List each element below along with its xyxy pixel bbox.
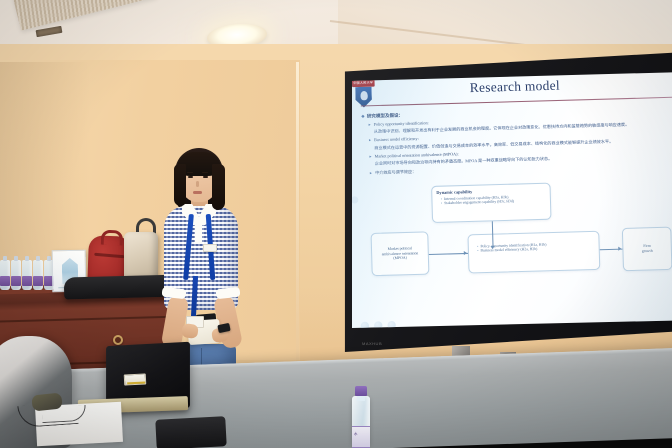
bullet-term: Policy opportunity identification: [374, 120, 429, 127]
bottle-cap [355, 386, 367, 396]
presentation-display[interactable]: 中国人民大学 Research model 研究模型及假设： Policy op… [338, 52, 672, 352]
diagram-arrow-mpoa-to-mediators [429, 253, 468, 255]
slide-tool-icon[interactable] [374, 321, 382, 328]
bottle-label-text: 水 [354, 432, 358, 437]
slide-body: 研究模型及假设： Policy opportunity identificati… [361, 105, 672, 178]
arrow-head-icon [618, 246, 621, 250]
display-screen[interactable]: 中国人民大学 Research model 研究模型及假设： Policy op… [352, 72, 672, 328]
slide-side-marker [352, 196, 358, 203]
diagram-box-mediators: Policy opportunity identification (H1a, … [467, 231, 600, 274]
bottle-label: 水 [352, 426, 370, 448]
slide-toolbar-icons[interactable] [361, 321, 396, 328]
presenter-mouth [193, 191, 202, 194]
diagram-box-firm-growth: Firm growth [622, 227, 672, 272]
display-brand-label: MAXHUB [362, 341, 382, 346]
slide-tool-icon[interactable] [387, 321, 395, 328]
laptop-sticker [124, 373, 147, 385]
presenter-hair-side [174, 164, 186, 206]
backpack-strap [94, 253, 124, 259]
slide-tool-icon[interactable] [361, 322, 369, 328]
arrow-head-icon [490, 246, 494, 249]
bullet-term: Business model efficiency: [374, 136, 419, 142]
powerpoint-slide: 中国人民大学 Research model 研究模型及假设： Policy op… [352, 72, 672, 328]
diagram-box-dynamic-capability: Dynamic capability Internal coordination… [431, 183, 551, 223]
dark-object-on-table [155, 416, 226, 448]
research-model-diagram: Dynamic capability Internal coordination… [363, 179, 672, 299]
cabinet-knob-icon[interactable] [113, 335, 123, 345]
wall-corner-edge [296, 62, 299, 362]
conference-room-scene: 中国人民大学 Research model 研究模型及假设： Policy op… [0, 0, 672, 448]
arrow-head-icon [464, 250, 467, 254]
diagram-box-mpoa: Market political ambivalence orientation… [371, 231, 430, 276]
water-bottle [11, 260, 21, 290]
foreground-water-bottle: 水 [352, 386, 370, 446]
water-bottle [0, 260, 10, 290]
presenter-placket [195, 222, 202, 244]
box-line: (MPOA) [393, 256, 407, 262]
box-line: growth [642, 249, 653, 254]
presenter-name-tag [203, 244, 217, 252]
bullet-term: Market political orientation ambivalence… [375, 151, 459, 158]
presenter-hair-side [212, 164, 225, 210]
water-bottle [33, 260, 43, 290]
water-bottle [22, 260, 32, 290]
presenter-nose [196, 181, 199, 187]
bullet-term: 中介效应与调节效应： [375, 168, 416, 174]
